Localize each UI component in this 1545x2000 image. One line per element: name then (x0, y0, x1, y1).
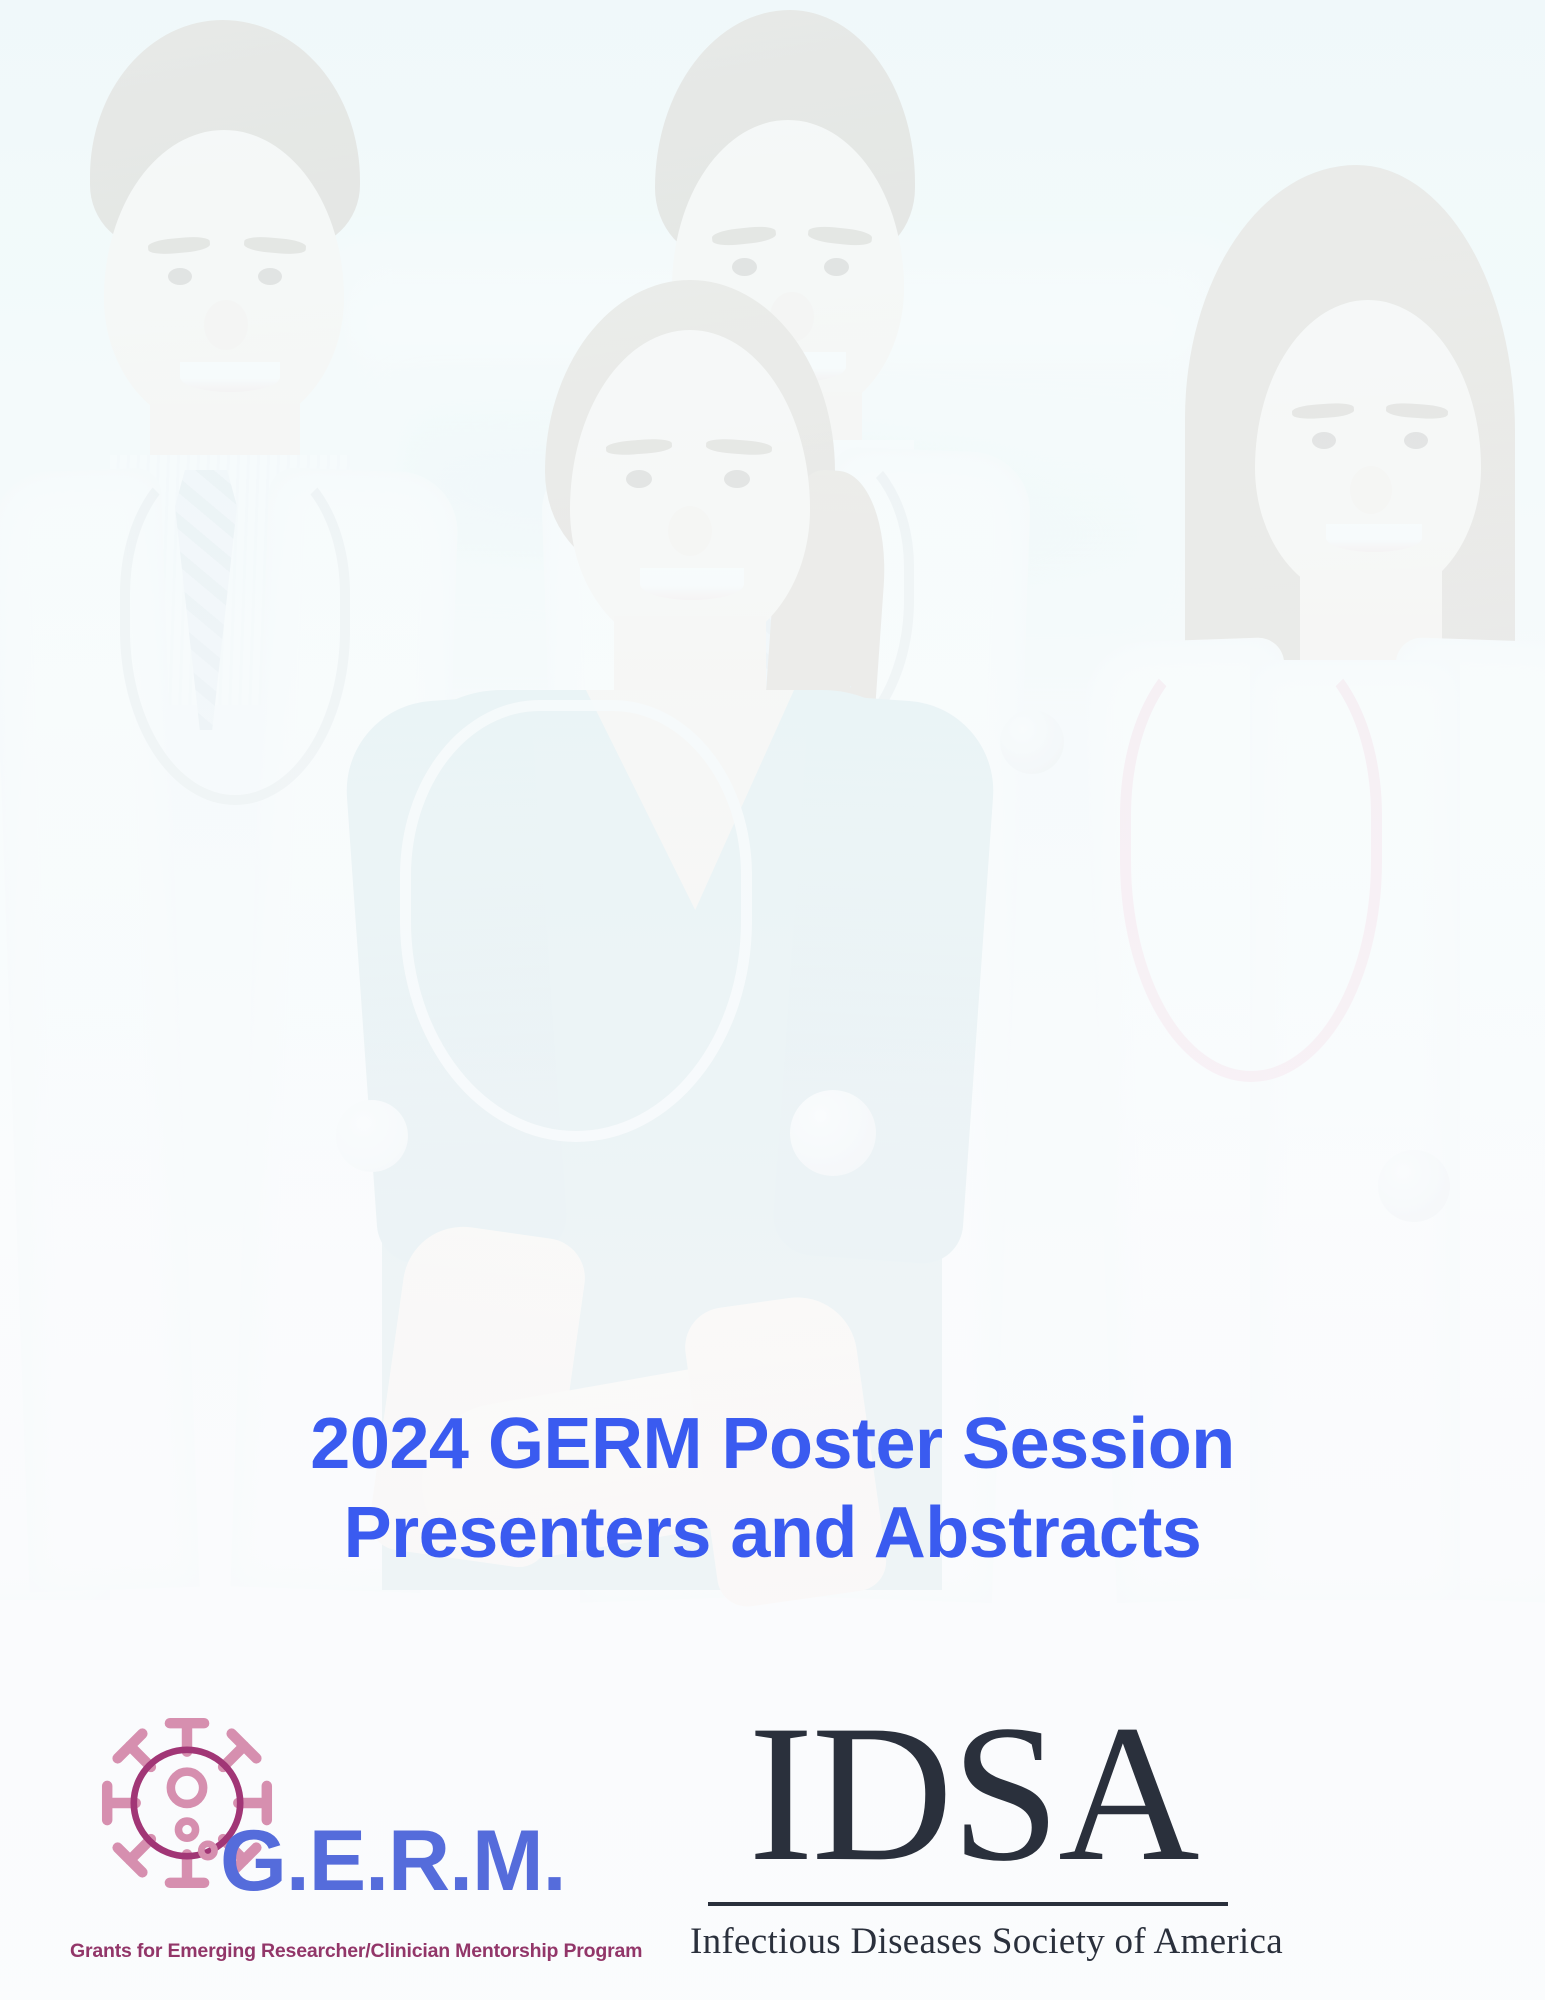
germ-wordmark: G.E.R.M. (220, 1818, 566, 1904)
idsa-wordmark: IDSA (698, 1696, 1248, 1892)
idsa-logo: IDSA Infectious Diseases Society of Amer… (690, 1696, 1250, 1996)
footer-logos: G.E.R.M. Grants for Emerging Researcher/… (0, 1680, 1545, 2000)
idsa-rule (708, 1902, 1228, 1906)
page-title-line-1: 2024 GERM Poster Session (0, 1400, 1545, 1489)
page-title: 2024 GERM Poster Session Presenters and … (0, 1400, 1545, 1579)
germ-logo: G.E.R.M. Grants for Emerging Researcher/… (60, 1690, 700, 2000)
germ-tagline: Grants for Emerging Researcher/Clinician… (70, 1940, 670, 1963)
cover-page: 2024 GERM Poster Session Presenters and … (0, 0, 1545, 2000)
idsa-tagline: Infectious Diseases Society of America (690, 1920, 1246, 1963)
page-title-line-2: Presenters and Abstracts (0, 1489, 1545, 1578)
